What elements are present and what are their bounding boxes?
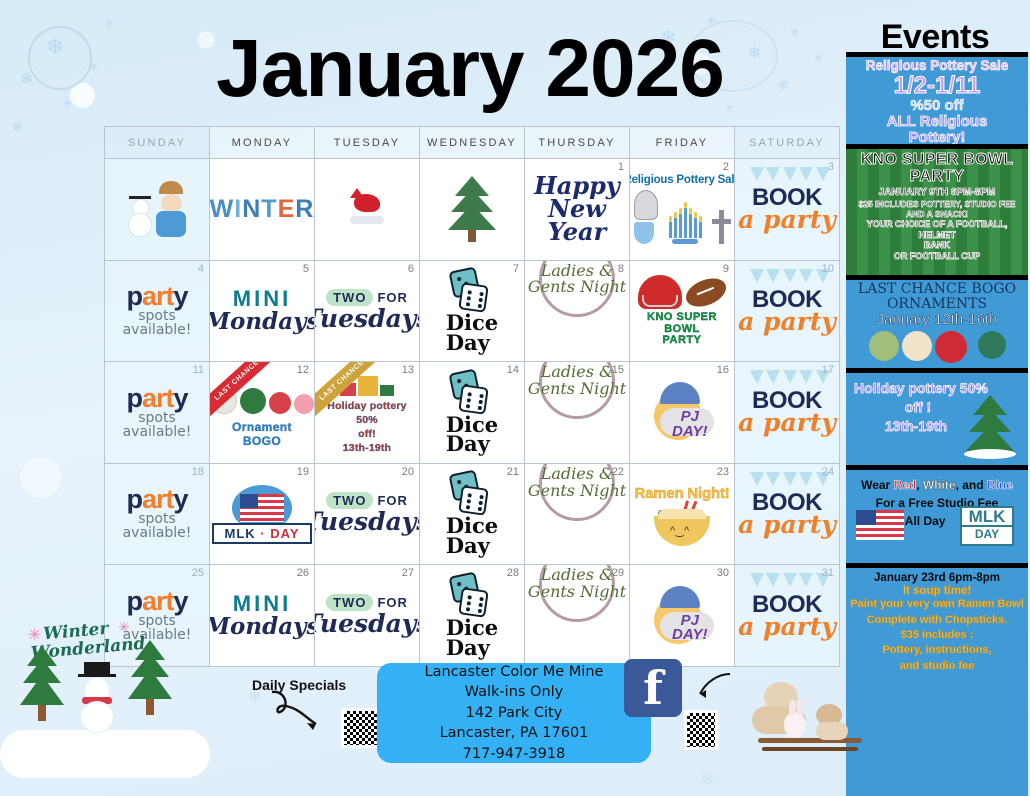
day-cell-9[interactable]: 9 KNO SUPER BOWLPARTY — [630, 261, 735, 363]
day-cell-28[interactable]: 28 DiceDay — [420, 565, 525, 667]
day-cell-22[interactable]: 22 Ladies &Gents Night — [525, 464, 630, 566]
snowy-tree-art — [420, 159, 524, 260]
day-number: 15 — [612, 364, 624, 376]
event-religious-pottery-sale[interactable]: Religious Pottery Sale 1/2-1/11 %50 off … — [846, 57, 1028, 144]
party-p: p — [126, 586, 142, 616]
day-cell-7[interactable]: 7 DiceDay — [420, 261, 525, 363]
cross-icon — [712, 210, 730, 244]
ramen-line6: Pottery, instructions, — [848, 643, 1026, 658]
party-y: y — [173, 484, 187, 514]
hny-line2: New Year — [527, 198, 627, 244]
dice-day-art: DiceDay — [420, 565, 524, 666]
day-cell-17[interactable]: 17 BOOK a party — [735, 362, 840, 464]
day-cell-8[interactable]: 8 Ladies &Gents Night — [525, 261, 630, 363]
party-p: p — [126, 281, 142, 311]
day-cell-3[interactable]: 3 BOOK a party — [735, 159, 840, 261]
mlk-day-sign-icon: MLK DAY — [960, 506, 1014, 546]
ramen-line3: Paint your very own Ramen Bowl — [848, 597, 1026, 612]
us-flag-icon — [240, 494, 284, 522]
helmet-icon — [638, 275, 682, 309]
puppy-icon — [816, 704, 850, 740]
weekday-monday: MONDAY — [210, 127, 315, 159]
ladies-gents-night-art: Ladies &Gents Night — [525, 261, 629, 299]
book-line2: a party — [738, 408, 836, 437]
studio-citystate: Lancaster, PA 17601 — [440, 723, 589, 744]
dice-day-art: DiceDay — [420, 464, 524, 565]
dice-icon — [451, 269, 493, 311]
day-number: 24 — [822, 466, 834, 478]
calendar-week-row: 25 party spots available! 26 MINI Monday… — [105, 565, 840, 667]
bogo-line2: ORNAMENTS — [848, 297, 1026, 312]
event-holiday-pottery-sale[interactable]: Holiday pottery 50% off ! 13th-19th — [846, 373, 1028, 465]
dice-line2: Day — [446, 536, 498, 556]
ladies-line2: Gents Night — [528, 279, 626, 296]
day-cell-31[interactable]: 31 BOOK a party — [735, 565, 840, 667]
day-cell-blank-4[interactable] — [420, 159, 525, 261]
dice-line2: Day — [446, 434, 498, 454]
daily-specials-qr-code[interactable] — [341, 708, 381, 748]
book-a-party-art: BOOK a party — [735, 565, 839, 666]
pj-day-art: PJ DAY! — [630, 565, 734, 666]
party-art: art — [142, 281, 174, 311]
party-y: y — [173, 281, 187, 311]
book-line2: a party — [738, 205, 836, 234]
holiday-pottery-art: Holiday pottery 50% off! 13th-19th — [315, 362, 419, 463]
superbowl-bank: BANK — [848, 240, 1026, 251]
snowflake-icon: ✳ — [62, 98, 72, 110]
day-cell-blank-1[interactable] — [105, 159, 210, 261]
day-cell-27[interactable]: 27 TWOFOR Tuesdays — [315, 565, 420, 667]
calendar-grid: SUNDAY MONDAY TUESDAY WEDNESDAY THURSDAY… — [104, 126, 840, 666]
two-for-tuesdays-art: TWOFOR Tuesdays — [315, 261, 419, 362]
book-line2: a party — [738, 307, 836, 336]
mlk-day-art: MLK · DAY — [210, 464, 314, 565]
calendar-weekday-header: SUNDAY MONDAY TUESDAY WEDNESDAY THURSDAY… — [105, 127, 840, 159]
day-cell-5[interactable]: 5 MINI Mondays — [210, 261, 315, 363]
superbowl-choice: YOUR CHOICE OF A FOOTBALL, HELMET — [848, 219, 1026, 240]
day-number: 22 — [612, 466, 624, 478]
us-flag-icon — [856, 510, 904, 540]
day-cell-19[interactable]: 19 MLK · DAY — [210, 464, 315, 566]
religious-pottery-art: Religious Pottery Sale — [630, 159, 734, 260]
mlk-red: Red — [894, 478, 917, 492]
dice-icon — [451, 472, 493, 514]
party-art: art — [142, 383, 174, 413]
party-line3: available! — [123, 425, 192, 440]
weekday-thursday: THURSDAY — [525, 127, 630, 159]
ladies-line2: Gents Night — [528, 483, 626, 500]
holiday-line3: 13th-19th — [317, 441, 417, 455]
for-word: FOR — [377, 290, 407, 305]
mlk-label1: MLK — [224, 526, 255, 541]
event-kno-super-bowl-party[interactable]: KNO SUPER BOWL PARTY JANUARY 9TH 6PM-8PM… — [846, 149, 1028, 275]
party-p: p — [126, 484, 142, 514]
holiday-line2: off! — [317, 427, 417, 441]
mini-mondays-art: MINI Mondays — [210, 261, 314, 362]
mlk-wear-line: Wear Red, White, and Blue — [848, 476, 1026, 494]
ramen-night-label: Ramen Night! — [634, 485, 729, 502]
day-cell-10[interactable]: 10 BOOK a party — [735, 261, 840, 363]
day-number: 3 — [828, 161, 834, 173]
mlk-blue: Blue — [987, 478, 1013, 492]
calendar-week-row: WINTER 1 Happy New Year — [105, 159, 840, 261]
day-cell-2[interactable]: 2 Religious Pottery Sale — [630, 159, 735, 261]
day-cell-18[interactable]: 18 party spots available! — [105, 464, 210, 566]
buddha-icon — [634, 190, 658, 244]
day-cell-14[interactable]: 14 DiceDay — [420, 362, 525, 464]
event-mlk-day[interactable]: Wear Red, White, and Blue For a Free Stu… — [846, 470, 1028, 563]
day-cell-26[interactable]: 26 MINI Mondays — [210, 565, 315, 667]
snowflake-icon: ✳ — [104, 18, 114, 30]
book-a-party-art: BOOK a party — [735, 261, 839, 362]
for-word: FOR — [377, 595, 407, 610]
day-cell-11[interactable]: 11 party spots available! — [105, 362, 210, 464]
mlk-sep2: , and — [956, 478, 987, 492]
mlk-white: White — [923, 478, 956, 492]
winter-lettering-art: WINTER — [210, 159, 314, 260]
nightcap-icon — [660, 382, 700, 404]
weekday-wednesday: WEDNESDAY — [420, 127, 525, 159]
curved-arrow-icon — [268, 690, 324, 736]
day-number: 17 — [822, 364, 834, 376]
curved-arrow-icon — [684, 672, 732, 714]
daily-specials-label: Daily Specials — [252, 677, 346, 693]
snowman-icon — [62, 662, 132, 742]
day-number: 20 — [402, 466, 414, 478]
pj-line2: DAY! — [672, 425, 708, 439]
day-number: 18 — [192, 466, 204, 478]
superbowl-price: $25 INCLUDES POTTERY, STUDIO FEE — [848, 199, 1026, 209]
mlk-badge-bottom: DAY — [962, 525, 1012, 541]
party-line2: spots — [138, 512, 176, 526]
day-cell-13[interactable]: LAST CHANCE 13 Holiday pottery 50% off! … — [315, 362, 420, 464]
event-ramen-night[interactable]: January 23rd 6pm-8pm It soup time! Paint… — [846, 568, 1028, 796]
happy-new-year-art: Happy New Year — [525, 159, 629, 260]
tuesdays-word: Tuesdays — [315, 507, 420, 536]
day-number: 23 — [717, 466, 729, 478]
dice-icon — [451, 574, 493, 616]
superbowl-line1: KNO SUPER BOWL — [632, 312, 732, 335]
bogo-dates: January 12th-16th — [848, 312, 1026, 329]
studio-info-box: Lancaster Color Me Mine Walk-ins Only 14… — [377, 663, 651, 763]
tuesdays-word: Tuesdays — [315, 609, 420, 638]
snowflake-icon: ✳ — [790, 26, 800, 38]
day-cell-1[interactable]: 1 Happy New Year — [525, 159, 630, 261]
dice-day-art: DiceDay — [420, 261, 524, 362]
superbowl-title1: KNO SUPER BOWL — [848, 152, 1026, 168]
bogo-line1: LAST CHANCE BOGO — [848, 282, 1026, 297]
two-for-tuesdays-art: TWOFOR Tuesdays — [315, 464, 419, 565]
menorah-icon — [662, 204, 708, 244]
events-sidebar: Events Religious Pottery Sale 1/2-1/11 %… — [840, 0, 1030, 796]
calendar-week-row: 18 party spots available! 19 MLK · DAY — [105, 464, 840, 566]
day-number: 28 — [507, 567, 519, 579]
pine-tree-icon — [20, 646, 64, 721]
weekday-saturday: SATURDAY — [735, 127, 840, 159]
book-a-party-art: BOOK a party — [735, 464, 839, 565]
for-word: FOR — [377, 493, 407, 508]
tuesdays-word: Tuesdays — [315, 304, 420, 333]
dice-line2: Day — [446, 638, 498, 658]
ladies-line2: Gents Night — [528, 584, 626, 601]
superbowl-datetime: JANUARY 9TH 6PM-8PM — [848, 187, 1026, 199]
ramen-line7: and studio fee — [848, 659, 1026, 674]
studio-phone: 717-947-3918 — [463, 744, 566, 765]
religious-sale-line5: Pottery! — [848, 130, 1026, 144]
day-cell-16[interactable]: 16 PJ DAY! — [630, 362, 735, 464]
snowflake-icon: ❄ — [12, 120, 24, 134]
ornament-bogo-label: Ornament BOGO — [212, 420, 312, 448]
day-number: 30 — [717, 567, 729, 579]
facebook-qr-code[interactable] — [684, 710, 718, 750]
ramen-price: $35 includes : — [848, 628, 1026, 643]
ramen-datetime: January 23rd 6pm-8pm — [848, 572, 1026, 585]
day-number: 16 — [717, 364, 729, 376]
day-number: 31 — [822, 567, 834, 579]
snowflake-icon: ❄ — [700, 770, 715, 788]
day-number: 19 — [297, 466, 309, 478]
day-cell-23[interactable]: 23 Ramen Night! ^‿^ — [630, 464, 735, 566]
day-number: 12 — [297, 364, 309, 376]
day-number: 8 — [618, 263, 624, 275]
religious-sale-line4: ALL Religious — [848, 114, 1026, 130]
day-number: 26 — [297, 567, 309, 579]
party-spots-art: party spots available! — [105, 261, 209, 362]
superbowl-cup: OR FOOTBALL CUP — [848, 251, 1026, 262]
party-line2: spots — [138, 411, 176, 425]
party-art: art — [142, 484, 174, 514]
day-cell-20[interactable]: 20 TWOFOR Tuesdays — [315, 464, 420, 566]
snowflake-icon: ❄ — [20, 72, 33, 88]
calendar-week-row: 11 party spots available! LAST CHANCE 12… — [105, 362, 840, 464]
party-art: art — [142, 586, 174, 616]
day-number: 10 — [822, 263, 834, 275]
weekday-friday: FRIDAY — [630, 127, 735, 159]
mlk-badge-top: MLK — [962, 508, 1012, 525]
day-cell-4[interactable]: 4 party spots available! — [105, 261, 210, 363]
bunny-icon — [784, 706, 810, 738]
cardinal-bird-art — [315, 159, 419, 260]
day-cell-29[interactable]: 29 Ladies &Gents Night — [525, 565, 630, 667]
party-spots-art: party spots available! — [105, 362, 209, 463]
party-line2: spots — [138, 309, 176, 323]
party-p: p — [126, 383, 142, 413]
mlk-sep1: , — [916, 478, 923, 492]
page-title: January 2026 — [150, 22, 790, 116]
religious-pottery-label: Religious Pottery Sale — [630, 174, 735, 186]
book-a-party-art: BOOK a party — [735, 362, 839, 463]
ladies-line2: Gents Night — [528, 381, 626, 398]
day-number: 21 — [507, 466, 519, 478]
football-icon — [681, 273, 729, 312]
day-number: 9 — [723, 263, 729, 275]
day-number: 29 — [612, 567, 624, 579]
snowflake-icon: ❄ — [46, 36, 64, 58]
ornaments-icon — [848, 331, 1026, 363]
day-number: 1 — [618, 161, 624, 173]
book-a-party-art: BOOK a party — [735, 159, 839, 260]
two-for-tuesdays-art: TWOFOR Tuesdays — [315, 565, 419, 666]
winter-word: WINTER — [210, 195, 314, 224]
day-number: 14 — [507, 364, 519, 376]
snowflake-icon: ✳ — [88, 60, 99, 73]
studio-name: Lancaster Color Me Mine — [425, 662, 604, 683]
day-number: 11 — [193, 364, 204, 376]
superbowl-snack: AND A SNACK! — [848, 209, 1026, 219]
day-cell-24[interactable]: 24 BOOK a party — [735, 464, 840, 566]
day-number: 25 — [192, 567, 204, 579]
studio-street: 142 Park City — [466, 703, 563, 724]
day-cell-blank-3[interactable] — [315, 159, 420, 261]
ramen-tagline: It soup time! — [848, 585, 1026, 598]
dice-day-art: DiceDay — [420, 362, 524, 463]
day-number: 4 — [198, 263, 204, 275]
weekday-tuesday: TUESDAY — [315, 127, 420, 159]
ornament-bogo-art: Ornament BOGO — [210, 362, 314, 463]
event-bogo-ornaments[interactable]: LAST CHANCE BOGO ORNAMENTS January 12th-… — [846, 280, 1028, 368]
day-cell-30[interactable]: 30 PJ DAY! — [630, 565, 735, 667]
weekday-sunday: SUNDAY — [105, 127, 210, 159]
day-number: 27 — [402, 567, 414, 579]
superbowl-line2: PARTY — [632, 335, 732, 347]
superbowl-title2: PARTY — [848, 169, 1026, 185]
religious-sale-dates: 1/2-1/11 — [848, 74, 1026, 98]
book-line2: a party — [738, 612, 836, 641]
sparkle-icon: ✳ — [28, 628, 41, 644]
mini-mondays-art: MINI Mondays — [210, 565, 314, 666]
mlk-label2: DAY — [270, 526, 299, 541]
party-line3: available! — [123, 323, 192, 338]
day-number: 2 — [723, 161, 729, 173]
swirl-decoration — [28, 26, 92, 90]
nightcap-icon — [660, 586, 700, 608]
mlk-pre: Wear — [861, 478, 893, 492]
christmas-tree-icon — [964, 395, 1016, 459]
day-number: 13 — [402, 364, 414, 376]
calendar-week-row: 4 party spots available! 5 MINI Mondays … — [105, 261, 840, 363]
party-y: y — [173, 586, 187, 616]
pine-tree-icon — [128, 640, 172, 715]
ramen-bowl-icon: ^‿^ — [654, 516, 710, 546]
party-line2: spots — [138, 614, 176, 628]
day-cell-12[interactable]: LAST CHANCE 12 Ornament BOGO — [210, 362, 315, 464]
day-cell-6[interactable]: 6 TWOFOR Tuesdays — [315, 261, 420, 363]
dice-icon — [451, 371, 493, 413]
book-line2: a party — [738, 510, 836, 539]
dice-line2: Day — [446, 333, 498, 353]
holiday-line1: Holiday pottery 50% — [317, 399, 417, 427]
day-number: 5 — [303, 263, 309, 275]
snowman-boy-art — [105, 159, 209, 260]
super-bowl-art: KNO SUPER BOWLPARTY — [630, 261, 734, 362]
ramen-line4: Complete with Chopsticks. — [848, 613, 1026, 628]
party-y: y — [173, 383, 187, 413]
snowflake-icon: ✳ — [814, 54, 823, 65]
day-number: 7 — [513, 263, 519, 275]
facebook-icon[interactable]: f — [624, 659, 682, 717]
ramen-night-art: Ramen Night! ^‿^ — [630, 464, 734, 565]
day-cell-15[interactable]: 15 Ladies &Gents Night — [525, 362, 630, 464]
religious-sale-discount: %50 off — [848, 98, 1026, 115]
day-cell-blank-2[interactable]: WINTER — [210, 159, 315, 261]
party-line3: available! — [123, 526, 192, 541]
pj-day-art: PJ DAY! — [630, 362, 734, 463]
mini-line2: Mondays — [210, 308, 315, 335]
pj-line2: DAY! — [672, 628, 708, 642]
day-cell-21[interactable]: 21 DiceDay — [420, 464, 525, 566]
party-spots-art: party spots available! — [105, 464, 209, 565]
mlk-ribbon: MLK · DAY — [212, 523, 311, 544]
studio-walkins: Walk-ins Only — [465, 682, 564, 703]
mini-line2: Mondays — [210, 613, 315, 640]
day-number: 6 — [408, 263, 414, 275]
